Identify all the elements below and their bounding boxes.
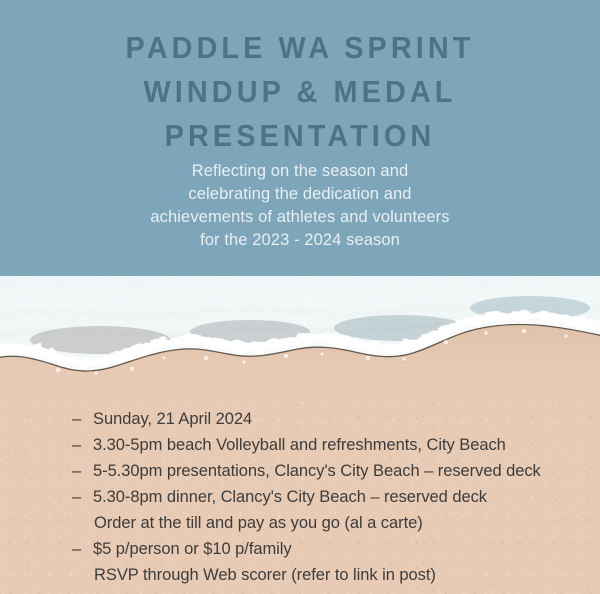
detail-row: –5.30-8pm dinner, Clancy's City Beach – … (0, 484, 600, 510)
dash-bullet-icon: – (72, 484, 86, 510)
detail-text: 5-5.30pm presentations, Clancy's City Be… (93, 458, 600, 484)
detail-row: Order at the till and pay as you go (al … (0, 510, 600, 536)
detail-row: –Sunday, 21 April 2024 (0, 406, 600, 432)
detail-text: RSVP through Web scorer (refer to link i… (94, 562, 600, 588)
page-title: PADDLE WA SPRINT WINDUP & MEDAL PRESENTA… (0, 26, 600, 158)
detail-text: Order at the till and pay as you go (al … (94, 510, 600, 536)
dash-bullet-icon: – (72, 458, 86, 484)
title-line-1: PADDLE WA SPRINT (21, 26, 579, 70)
detail-row: –5-5.30pm presentations, Clancy's City B… (0, 458, 600, 484)
dash-bullet-icon: – (72, 406, 86, 432)
detail-text: 3.30-5pm beach Volleyball and refreshmen… (93, 432, 600, 458)
detail-text: $5 p/person or $10 p/family (93, 536, 600, 562)
title-line-3: PRESENTATION (21, 114, 579, 158)
detail-row: –$5 p/person or $10 p/family (0, 536, 600, 562)
detail-text: Sunday, 21 April 2024 (93, 406, 600, 432)
subtitle-line-4: for the 2023 - 2024 season (0, 229, 600, 252)
subtitle-line-1: Reflecting on the season and (0, 160, 600, 183)
title-line-2: WINDUP & MEDAL (21, 70, 579, 114)
subtitle: Reflecting on the season and celebrating… (0, 160, 600, 252)
dash-bullet-icon: – (72, 536, 86, 562)
beach-wave-photo (0, 274, 600, 402)
subtitle-line-3: achievements of athletes and volunteers (0, 206, 600, 229)
detail-row: RSVP through Web scorer (refer to link i… (0, 562, 600, 588)
detail-row: –3.30-5pm beach Volleyball and refreshme… (0, 432, 600, 458)
subtitle-line-2: celebrating the dedication and (0, 183, 600, 206)
dash-bullet-icon: – (72, 432, 86, 458)
detail-text: 5.30-8pm dinner, Clancy's City Beach – r… (93, 484, 600, 510)
header-panel: PADDLE WA SPRINT WINDUP & MEDAL PRESENTA… (0, 0, 600, 276)
event-poster: PADDLE WA SPRINT WINDUP & MEDAL PRESENTA… (0, 0, 600, 594)
event-details-list: –Sunday, 21 April 2024–3.30-5pm beach Vo… (0, 406, 600, 588)
